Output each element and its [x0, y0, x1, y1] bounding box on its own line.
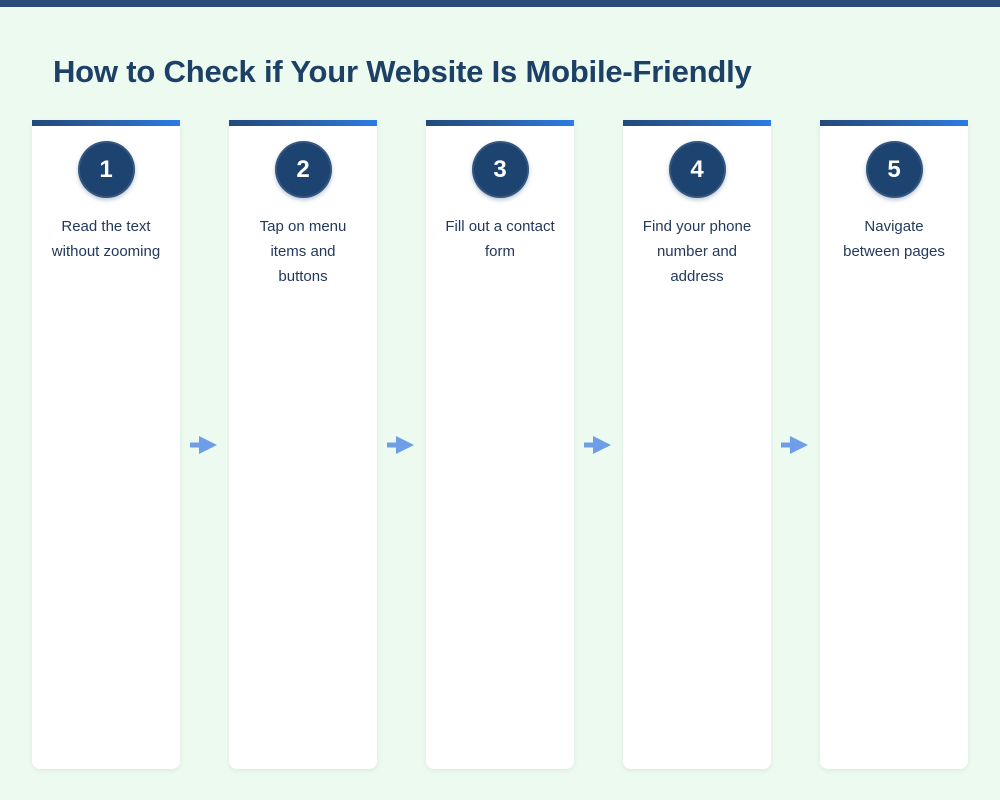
- step-number-badge: 5: [866, 141, 923, 198]
- card-content: 1 Read the text without zooming: [32, 126, 180, 264]
- step-card-4[interactable]: 4 Find your phone number and address: [623, 120, 771, 769]
- arrow-right-icon: [584, 433, 612, 457]
- arrow-right-icon: [781, 433, 809, 457]
- step-card-5[interactable]: 5 Navigate between pages: [820, 120, 968, 769]
- card-content: 3 Fill out a contact form: [426, 126, 574, 264]
- step-label: Read the text without zooming: [51, 214, 161, 264]
- card-content: 4 Find your phone number and address: [623, 126, 771, 289]
- page-title: How to Check if Your Website Is Mobile-F…: [53, 54, 752, 90]
- arrow-right-icon: [387, 433, 415, 457]
- step-number-badge: 2: [275, 141, 332, 198]
- step-number-badge: 1: [78, 141, 135, 198]
- step-label: Tap on menu items and buttons: [248, 214, 358, 289]
- card-content: 5 Navigate between pages: [820, 126, 968, 264]
- top-accent-bar: [0, 0, 1000, 7]
- arrow-right-icon: [190, 433, 218, 457]
- step-card-3[interactable]: 3 Fill out a contact form: [426, 120, 574, 769]
- step-label: Fill out a contact form: [445, 214, 555, 264]
- step-number-badge: 4: [669, 141, 726, 198]
- step-card-2[interactable]: 2 Tap on menu items and buttons: [229, 120, 377, 769]
- step-label: Navigate between pages: [839, 214, 949, 264]
- step-label: Find your phone number and address: [642, 214, 752, 289]
- card-content: 2 Tap on menu items and buttons: [229, 126, 377, 289]
- step-number-badge: 3: [472, 141, 529, 198]
- steps-flow: 1 Read the text without zooming 2 Tap on…: [32, 120, 968, 769]
- step-card-1[interactable]: 1 Read the text without zooming: [32, 120, 180, 769]
